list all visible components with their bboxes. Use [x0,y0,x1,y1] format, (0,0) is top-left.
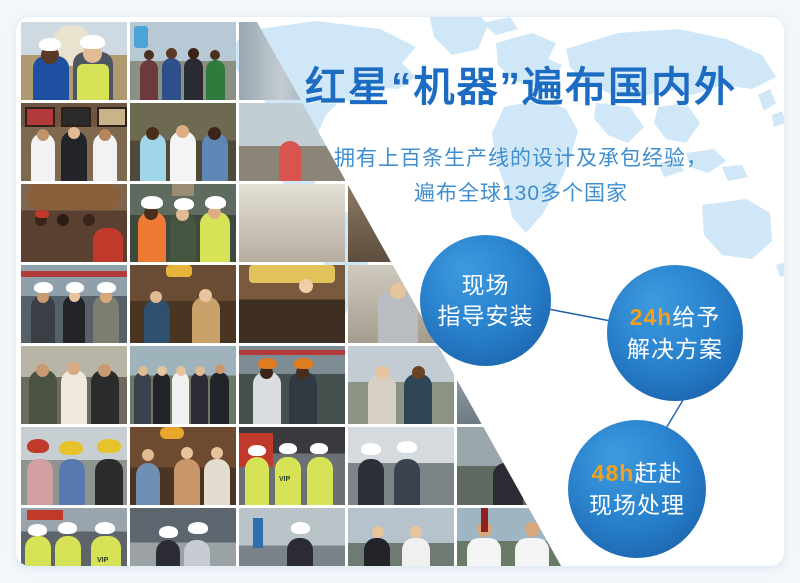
photo-tile [21,184,127,262]
photo-tile [239,346,345,424]
bubble-line-1: 24h给予 [630,301,721,333]
photo-tile [239,265,345,343]
bubble-line-1: 现场 [462,270,510,301]
banner-stage: VIP [0,0,800,583]
subtitle-line-1: 拥有上百条生产线的设计及承包经验， [271,141,771,176]
photo-tile [130,103,236,181]
page-subtitle: 拥有上百条生产线的设计及承包经验， 遍布全球130多个国家 [271,141,771,211]
bubble-highlight-48h: 48h [592,460,635,486]
photo-tile [239,508,345,566]
service-bubble-on-site-installation[interactable]: 现场 指导安装 [420,235,551,366]
photo-tile [130,184,236,262]
photo-tile [130,346,236,424]
subtitle-line-2: 遍布全球130多个国家 [271,176,771,211]
photo-tile [21,346,127,424]
photo-tile [348,427,454,505]
promo-card: VIP [16,17,784,566]
vip-vest-label: VIP [97,557,108,564]
bubble-line-1-text: 赶赴 [634,460,682,486]
photo-tile: VIP [239,427,345,505]
photo-tile [130,427,236,505]
service-bubble-24h-solution[interactable]: 24h给予 解决方案 [607,265,743,401]
bubble-line-2: 现场处理 [589,489,685,521]
photo-tile [21,22,127,100]
vip-vest-label: VIP [279,476,290,483]
photo-tile [130,508,236,566]
photo-tile [21,265,127,343]
photo-tile [348,508,454,566]
page-title: 红星“机器”遍布国内外 [271,63,771,112]
photo-tile [21,427,127,505]
bubble-highlight-24h: 24h [630,304,673,330]
photo-tile [130,265,236,343]
photo-tile [348,346,454,424]
photo-tile: VIP [21,508,127,566]
bubble-line-1: 48h赶赴 [592,457,683,489]
bubble-line-2: 解决方案 [627,333,723,365]
photo-tile [130,22,236,100]
photo-tile [21,103,127,181]
service-bubble-48h-on-site[interactable]: 48h赶赴 现场处理 [568,420,706,558]
bubble-line-1-text: 给予 [672,304,720,330]
bubble-line-2: 指导安装 [438,301,534,332]
